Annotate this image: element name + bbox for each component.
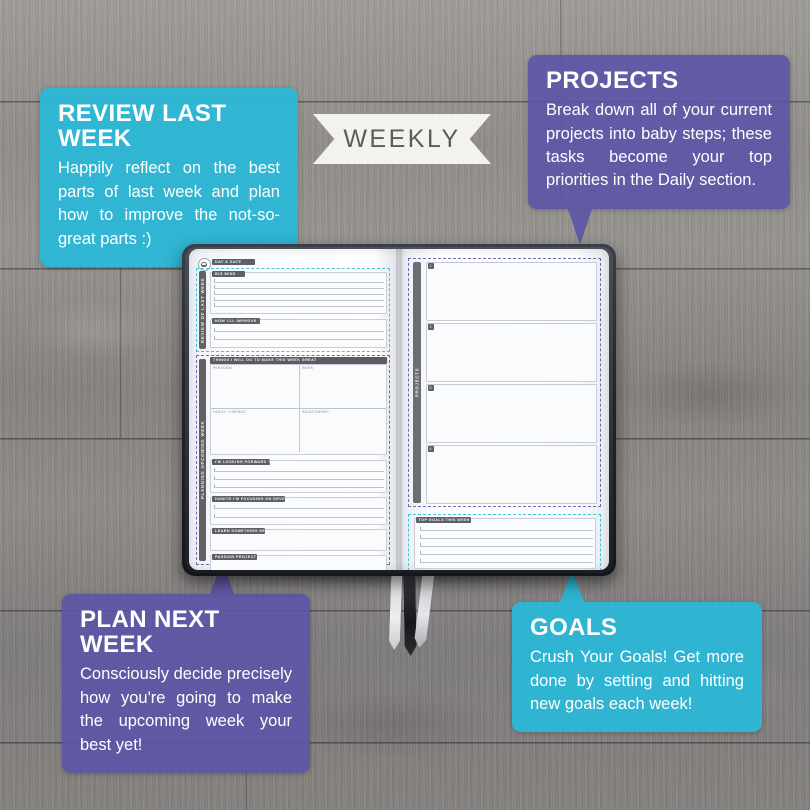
weekly-banner: WEEKLY [313,114,491,164]
section-chip-top-goals-this-week: TOP GOALS THIS WEEK [416,517,471,523]
planner-left-page: DAY & DATE REVIEW OF LAST WEEK BIG WINS … [189,249,396,570]
planner-spread: DAY & DATE REVIEW OF LAST WEEK BIG WINS … [189,249,609,570]
infographic-canvas: WEEKLY REVIEW LAST WEEK Happily reflect … [0,0,810,810]
project-number: 3 [428,385,434,391]
callout-title: GOALS [530,615,744,640]
callout-body: Break down all of your current projects … [546,99,772,193]
panel-looking-forward [210,460,387,493]
wood-grain [620,360,800,430]
quadrant-label-family-friends: FAMILY / FRIENDS [213,410,246,414]
section-chip-big-wins: BIG WINS [212,271,245,277]
project-number: 4 [428,446,434,452]
callout-body: Happily reflect on the best parts of las… [58,157,280,251]
section-chip-how-ill-improve: HOW I'LL IMPROVE [212,318,260,324]
callout-title: REVIEW LAST WEEK [58,101,280,151]
bookmark-ribbon-black [403,572,416,656]
project-number: 1 [428,263,434,269]
callout-review-last-week: REVIEW LAST WEEK Happily reflect on the … [40,88,298,267]
section-chip-passion-project: PASSION PROJECT [212,554,257,560]
project-box[interactable] [426,323,597,382]
callout-tail-icon [568,209,592,245]
callout-body: Consciously decide precisely how you're … [80,663,292,757]
callout-plan-next-week: PLAN NEXT WEEK Consciously decide precis… [62,594,310,773]
callout-projects: PROJECTS Break down all of your current … [528,55,790,209]
section-chip-things-i-will-do: THINGS I WILL DO TO MAKE THIS WEEK GREAT [210,357,387,364]
project-number: 2 [428,324,434,330]
callout-goals: GOALS Crush Your Goals! Get more done by… [512,602,762,732]
sidebar-tab-planning-upcoming-week: PLANNING UPCOMING WEEK [199,359,206,561]
callout-body: Crush Your Goals! Get more done by setti… [530,646,744,716]
project-box[interactable] [426,262,597,321]
callout-title: PROJECTS [546,68,772,93]
section-chip-learn-something-new: LEARN SOMETHING NEW [212,528,265,534]
panel-big-wins [210,272,387,314]
quadrant-label-relationship: RELATIONSHIP [302,410,329,414]
planner-right-page: PROJECTS 1 2 3 4 TOP GOALS THIS WEEK [402,249,609,570]
banner-label: WEEKLY [313,114,491,164]
quadrant-label-personal: PERSONAL [213,366,233,370]
section-chip-habits-developing: HABITS I'M FOCUSING ON DEVELOPING [212,496,285,502]
callout-title: PLAN NEXT WEEK [80,607,292,657]
date-chip: DAY & DATE [212,259,255,265]
project-box[interactable] [426,445,597,504]
wood-grain [280,690,500,760]
quadrant-label-work: WORK [302,366,313,370]
wood-grain [20,300,170,360]
project-box[interactable] [426,384,597,443]
sidebar-tab-review-of-last-week: REVIEW OF LAST WEEK [199,271,206,349]
section-chip-looking-forward-to: I'M LOOKING FORWARD TO [212,459,270,465]
planner-book: DAY & DATE REVIEW OF LAST WEEK BIG WINS … [182,244,616,576]
sidebar-tab-projects: PROJECTS [413,262,421,503]
